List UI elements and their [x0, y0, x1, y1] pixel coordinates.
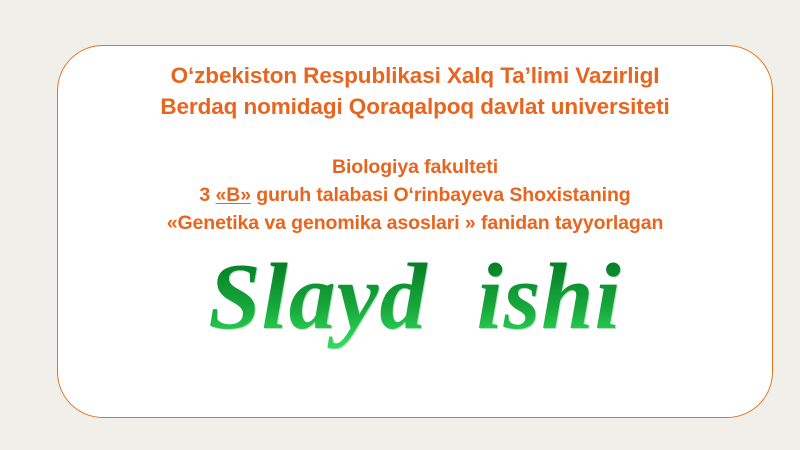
presentation-details: Biologiya fakulteti 3 «B» guruh talabasi… [58, 153, 772, 237]
slide-title-block: Slayd ishi [58, 245, 772, 349]
faculty-line: Biologiya fakulteti [58, 153, 772, 181]
student-line: 3 «B» guruh talabasi O‘rinbayeva Shoxist… [58, 181, 772, 209]
institution-heading: O‘zbekiston Respublikasi Xalq Ta’limi Va… [58, 60, 772, 122]
heading-line-ministry: O‘zbekiston Respublikasi Xalq Ta’limi Va… [58, 60, 772, 91]
subject-line: «Genetika va genomika asoslari » fanidan… [58, 209, 772, 237]
group-designator: «B» [216, 184, 251, 206]
student-line-suffix: guruh talabasi O‘rinbayeva Shoxistaning [251, 184, 631, 206]
heading-line-university: Berdaq nomidagi Qoraqalpoq davlat univer… [58, 91, 772, 122]
slide-content: O‘zbekiston Respublikasi Xalq Ta’limi Va… [58, 46, 772, 417]
slide-stage: O‘zbekiston Respublikasi Xalq Ta’limi Va… [0, 0, 800, 450]
student-line-prefix: 3 [199, 184, 215, 206]
page-title: Slayd ishi [208, 245, 621, 349]
slide-card-frame: O‘zbekiston Respublikasi Xalq Ta’limi Va… [57, 45, 773, 418]
